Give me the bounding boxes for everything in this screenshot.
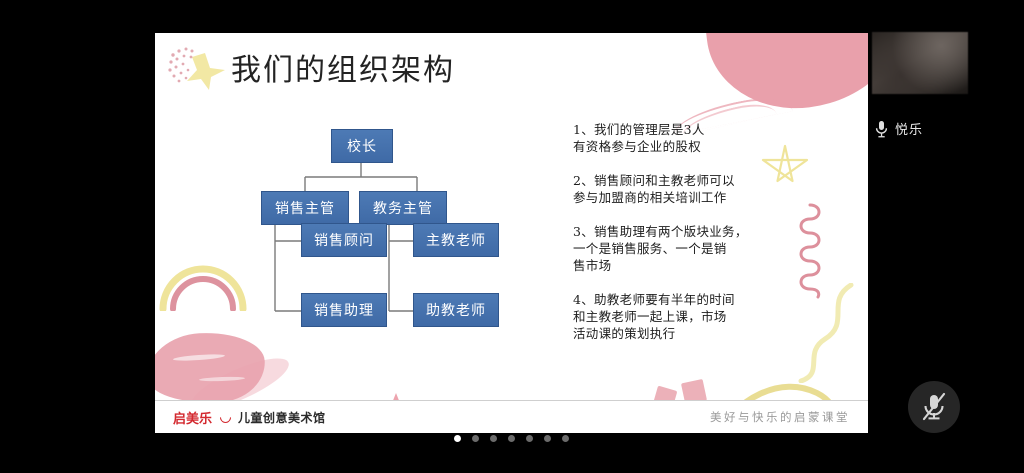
rainbow-arc-decoration bbox=[157, 255, 249, 311]
microphone-muted-icon bbox=[921, 392, 947, 422]
participant-video-thumbnail[interactable] bbox=[872, 32, 968, 94]
note-item-4: 4、助教老师要有半年的时间 和主教老师一起上课，市场 活动课的策划执行 bbox=[573, 291, 823, 342]
page-dot-7[interactable] bbox=[562, 435, 569, 442]
note-item-3: 3、销售助理有两个版块业务， 一个是销售服务、一个是销 售市场 bbox=[573, 223, 823, 274]
org-chart: 校长 销售主管 教务主管 销售顾问 主教老师 销售助理 助教老师 bbox=[255, 115, 585, 365]
org-box-assistant-teacher[interactable]: 助教老师 bbox=[413, 293, 499, 327]
page-title: 我们的组织架构 bbox=[231, 45, 455, 89]
note-item-1: 1、我们的管理层是3人 有资格参与企业的股权 bbox=[573, 121, 823, 155]
meeting-screen-share-view: 我们的组织架构 bbox=[0, 0, 1024, 473]
participant-panel[interactable]: 悦乐 bbox=[872, 32, 1024, 138]
org-box-sales-manager[interactable]: 销售主管 bbox=[261, 191, 349, 225]
brush-highlight-2 bbox=[199, 376, 245, 382]
org-box-academic-manager[interactable]: 教务主管 bbox=[359, 191, 447, 225]
page-dot-1[interactable] bbox=[454, 435, 461, 442]
org-box-principal[interactable]: 校长 bbox=[331, 129, 393, 163]
sparkle-star-icon bbox=[165, 43, 227, 91]
page-dot-5[interactable] bbox=[526, 435, 533, 442]
slide-footer: 启美乐 儿童创意美术馆 美好与快乐的启蒙课堂 bbox=[155, 400, 868, 433]
note-item-2: 2、销售顾问和主教老师可以 参与加盟商的相关培训工作 bbox=[573, 172, 823, 206]
pink-blob-decoration bbox=[701, 33, 868, 119]
slide-notes-list: 1、我们的管理层是3人 有资格参与企业的股权 2、销售顾问和主教老师可以 参与加… bbox=[573, 121, 823, 359]
pink-brush-stroke-decoration bbox=[155, 330, 267, 406]
mute-toggle-button[interactable] bbox=[908, 381, 960, 433]
page-dot-6[interactable] bbox=[544, 435, 551, 442]
slide-title-row: 我们的组织架构 bbox=[165, 43, 455, 91]
smile-icon bbox=[218, 409, 234, 425]
slide-page-dots[interactable] bbox=[155, 435, 868, 442]
org-box-sales-assistant[interactable]: 销售助理 bbox=[301, 293, 387, 327]
microphone-icon bbox=[875, 120, 888, 138]
page-dot-4[interactable] bbox=[508, 435, 515, 442]
page-dot-3[interactable] bbox=[490, 435, 497, 442]
brush-highlight-1 bbox=[173, 353, 225, 362]
participant-info-row: 悦乐 bbox=[872, 119, 1024, 138]
brand-subtitle: 儿童创意美术馆 bbox=[238, 409, 326, 426]
org-box-main-teacher[interactable]: 主教老师 bbox=[413, 223, 499, 257]
shared-slide[interactable]: 我们的组织架构 bbox=[155, 33, 868, 433]
brand-logo: 启美乐 bbox=[173, 408, 212, 427]
participant-name: 悦乐 bbox=[895, 119, 923, 138]
footer-tagline: 美好与快乐的启蒙课堂 bbox=[710, 409, 850, 425]
org-box-sales-consultant[interactable]: 销售顾问 bbox=[301, 223, 387, 257]
footer-brand: 启美乐 儿童创意美术馆 bbox=[173, 408, 326, 427]
page-dot-2[interactable] bbox=[472, 435, 479, 442]
